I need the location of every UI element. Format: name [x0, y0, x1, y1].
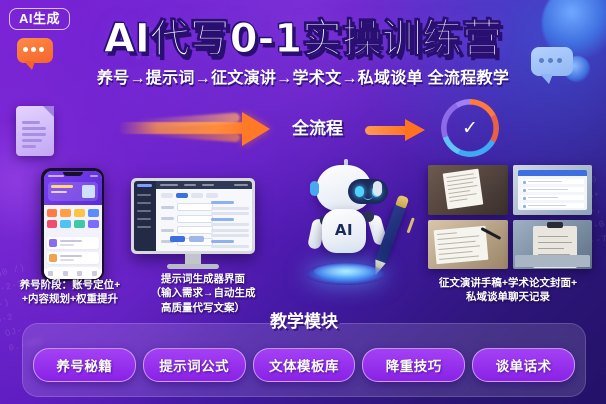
phone-mockup: [41, 168, 104, 281]
module-chip-yanghao[interactable]: 养号秘籍: [33, 348, 136, 382]
modules-panel: 教学模块 养号秘籍 提示词公式 文体模板库 降重技巧 谈单话术: [22, 323, 586, 397]
photo-document-on-desk: [428, 220, 508, 270]
caption-line: （输入需求→自动生成: [140, 286, 266, 300]
phone-caption: 养号阶段：账号定位+ +内容规划+权重提升: [2, 278, 138, 307]
module-chip-list: 养号秘籍 提示词公式 文体模板库 降重技巧 谈单话术: [33, 348, 575, 382]
photo-clipboard-checklist: [513, 220, 593, 270]
caption-line: 养号阶段：账号定位+: [2, 278, 138, 292]
module-chip-sales-script[interactable]: 谈单话术: [472, 348, 575, 382]
robot-mascot: AI: [292, 163, 400, 281]
caption-line: 私域谈单聊天记录: [412, 290, 604, 304]
page-title: AI代写0-1实操训练营: [0, 19, 606, 59]
checkmark-icon: ✓: [441, 99, 499, 157]
robot-chest-label: AI: [322, 221, 366, 239]
flow-label: 全流程: [292, 114, 343, 139]
caption-line: 提示词生成器界面: [140, 272, 266, 286]
ribbon-arrow-icon: [118, 108, 293, 152]
document-icon: [16, 106, 54, 156]
page-subtitle: 养号→提示词→征文演讲→学术文→私域谈单 全流程教学: [0, 70, 606, 88]
promo-banner: 1 1-0/) /0 -1) 0.x+1 (x-1-0) 0.13+x d(x)…: [0, 0, 606, 404]
photo-chat-window: [513, 165, 593, 215]
monitor-mockup: [131, 178, 255, 269]
modules-panel-title: 教学模块: [23, 307, 585, 332]
module-chip-template-library[interactable]: 文体模板库: [253, 348, 356, 382]
module-chip-reduce-duplication[interactable]: 降重技巧: [362, 348, 465, 382]
caption-line: +内容规划+权重提升: [2, 292, 138, 306]
photo-grid: [428, 165, 592, 269]
arrow-right-icon: [365, 120, 427, 140]
caption-line: 征文演讲手稿+学术论文封面+: [412, 276, 604, 290]
module-chip-prompt-formula[interactable]: 提示词公式: [143, 348, 246, 382]
photo-manuscript-in-hand: [428, 165, 508, 215]
photos-caption: 征文演讲手稿+学术论文封面+ 私域谈单聊天记录: [412, 276, 604, 305]
